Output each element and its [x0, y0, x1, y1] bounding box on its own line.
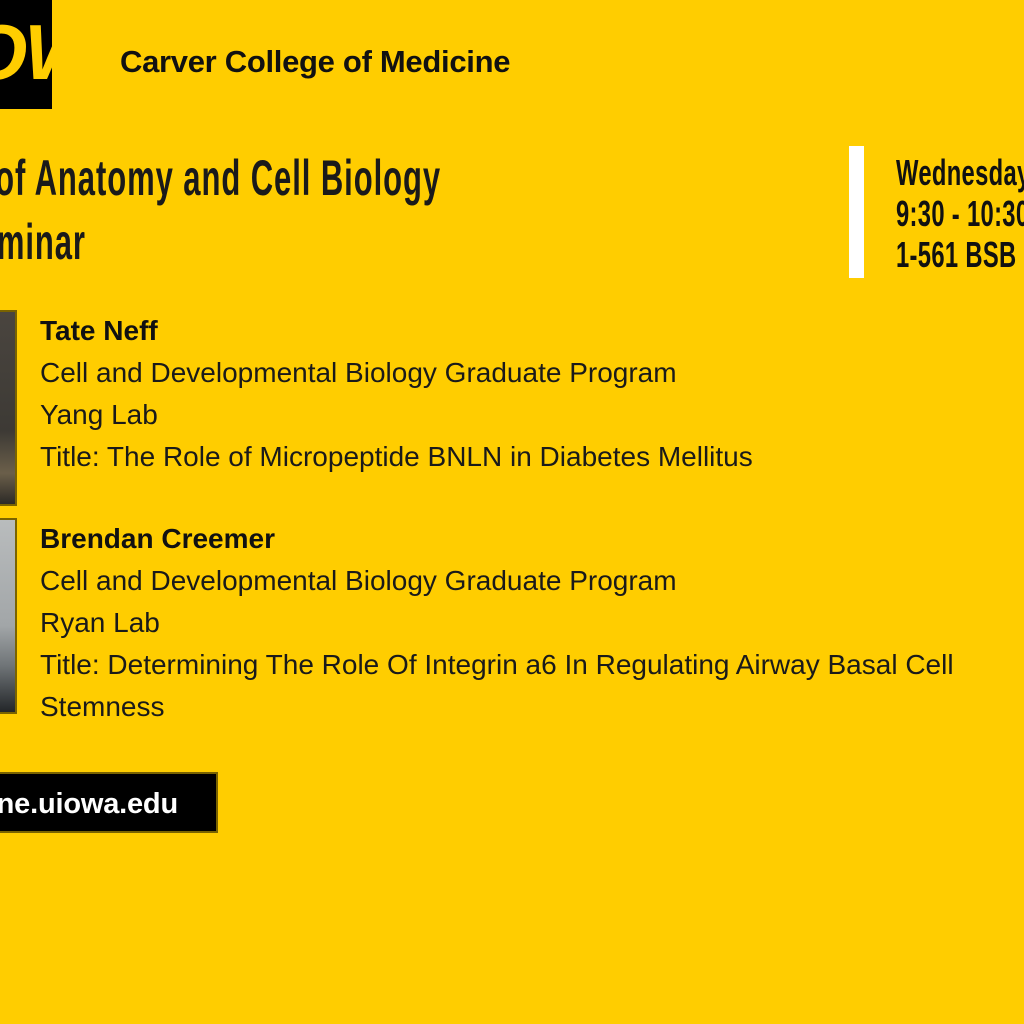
speaker-talk-title: Title: The Role of Micropeptide BNLN in …	[40, 436, 1024, 478]
speaker-text: Brendan Creemer Cell and Developmental B…	[40, 518, 1024, 728]
website-url-bar[interactable]: medicine.uiowa.edu	[0, 772, 218, 833]
event-details: Wednesday 9:30 - 10:30 AM 1-561 BSB (MER…	[896, 152, 1024, 275]
speaker-text: Tate Neff Cell and Developmental Biology…	[40, 310, 1024, 478]
speaker-name: Tate Neff	[40, 310, 1024, 352]
speaker-photo	[0, 518, 17, 714]
vertical-divider	[849, 146, 864, 278]
headline-line-2: Graduate Seminar	[0, 210, 610, 274]
headline: Department of Anatomy and Cell Biology G…	[0, 146, 1024, 274]
headline-line-1: Department of Anatomy and Cell Biology	[0, 146, 610, 210]
event-time: 9:30 - 10:30 AM	[896, 193, 1024, 234]
seminar-poster: IOWA Carver College of Medicine Departme…	[0, 0, 1024, 1024]
website-url-text: medicine.uiowa.edu	[0, 785, 178, 823]
speaker-name: Brendan Creemer	[40, 518, 1024, 560]
iowa-logo: IOWA	[0, 0, 52, 109]
iowa-logo-text: IOWA	[0, 10, 52, 94]
speaker-program: Cell and Developmental Biology Graduate …	[40, 352, 1024, 394]
event-day: Wednesday	[896, 152, 1024, 193]
speaker-lab: Ryan Lab	[40, 602, 1024, 644]
college-name: Carver College of Medicine	[120, 44, 510, 80]
speaker-lab: Yang Lab	[40, 394, 1024, 436]
speaker-program: Cell and Developmental Biology Graduate …	[40, 560, 1024, 602]
speaker-talk-title: Title: Determining The Role Of Integrin …	[40, 644, 1024, 728]
speaker-photo	[0, 310, 17, 506]
event-location: 1-561 BSB (MERF)	[896, 234, 1024, 275]
